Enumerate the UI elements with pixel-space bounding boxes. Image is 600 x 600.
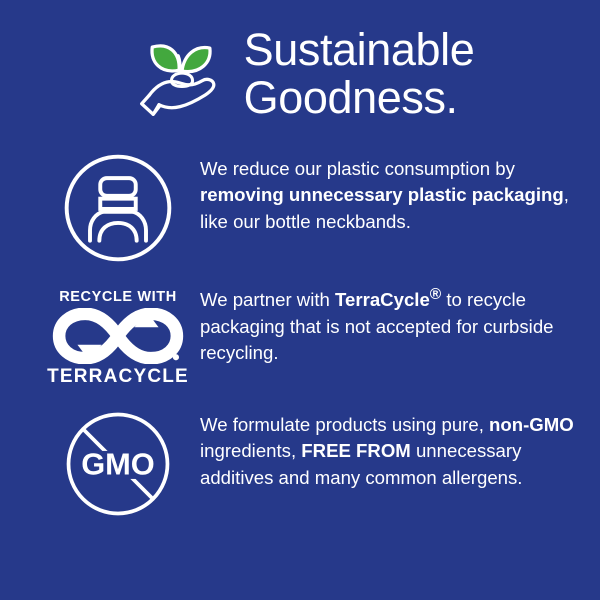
benefit-row-terracycle: RECYCLE WITH TERRACY [0,278,600,398]
benefit-text-terracycle: We partner with TerraCycle® to recycle p… [188,278,582,366]
terracycle-logo: RECYCLE WITH TERRACY [52,290,184,386]
text-segment: We formulate products using pure, [200,414,489,435]
text-segment-bold: TerraCycle® [335,289,441,310]
benefit-row-non-gmo: GMO GMO We formulate products using pure… [0,406,600,526]
text-segment-bold: FREE FROM [301,440,411,461]
benefit-text-plastic: We reduce our plastic consumption by rem… [188,150,582,235]
benefit-rows: We reduce our plastic consumption by rem… [0,150,600,526]
text-segment-bold: non-GMO [489,414,574,435]
row-icon-wrapper: GMO GMO [48,408,188,525]
text-segment: ingredients, [200,440,301,461]
non-gmo-label: GMO [81,446,155,481]
hand-holding-sprout-icon [134,26,230,122]
sustainable-goodness-panel: Sustainable Goodness. [0,0,600,600]
terracycle-bottom-label: TERRACYCLE [47,367,189,386]
text-segment: We reduce our plastic consumption by [200,158,515,179]
text-segment-bold: removing unnecessary plastic packaging [200,184,564,205]
benefit-row-plastic: We reduce our plastic consumption by rem… [0,150,600,270]
brand-name: TerraCycle [335,289,430,310]
page-header: Sustainable Goodness. [0,0,600,122]
terracycle-infinity-arrows-icon [52,308,184,364]
row-icon-wrapper [48,152,188,269]
terracycle-top-label: RECYCLE WITH [59,290,177,305]
registered-trademark-mark: ® [430,286,441,303]
page-title: Sustainable Goodness. [244,26,475,121]
bottle-no-neckband-icon [62,152,174,269]
text-segment: We partner with [200,289,335,310]
row-icon-wrapper: RECYCLE WITH TERRACY [48,290,188,386]
non-gmo-icon: GMO [62,408,174,525]
benefit-text-non-gmo: We formulate products using pure, non-GM… [188,406,582,491]
